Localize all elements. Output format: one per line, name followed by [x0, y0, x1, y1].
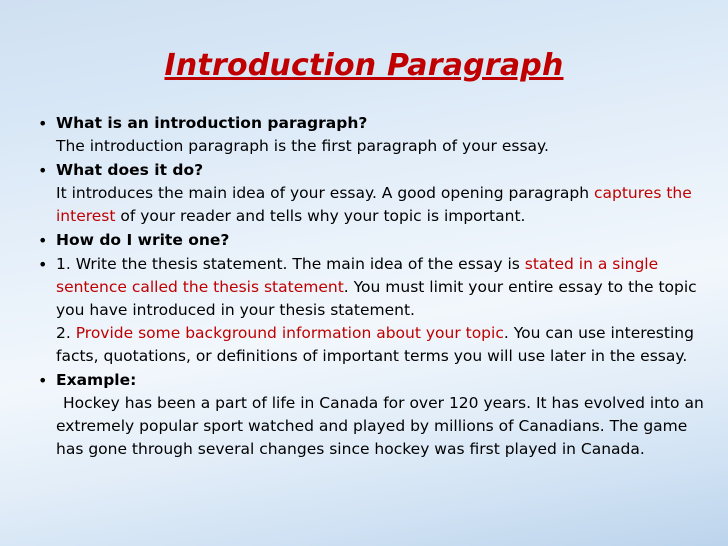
bullet-line: How do I write one? [56, 229, 708, 252]
bullet-marker-icon: • [28, 229, 56, 252]
text-run: Hockey has been a part of life in Canada… [56, 394, 704, 458]
bullet-text: What is an introduction paragraph?The in… [56, 112, 708, 158]
slide-body: •What is an introduction paragraph?The i… [28, 112, 708, 462]
bullet-item: •Example:Hockey has been a part of life … [28, 369, 708, 461]
bullet-text: 1. Write the thesis statement. The main … [56, 253, 708, 368]
text-run: It introduces the main idea of your essa… [56, 184, 594, 202]
text-run: How do I write one? [56, 231, 229, 249]
bullet-line: 2. Provide some background information a… [56, 322, 708, 368]
highlight-text: Provide some background information abou… [76, 324, 504, 342]
text-run: What does it do? [56, 161, 203, 179]
bullet-line: It introduces the main idea of your essa… [56, 182, 708, 228]
text-run: The introduction paragraph is the first … [56, 137, 549, 155]
text-run: 1. Write the thesis statement. The main … [56, 255, 525, 273]
bullet-line: What does it do? [56, 159, 708, 182]
bullet-marker-icon: • [28, 369, 56, 392]
bullet-marker-icon: • [28, 159, 56, 182]
text-run: What is an introduction paragraph? [56, 114, 367, 132]
bullet-text: Example:Hockey has been a part of life i… [56, 369, 708, 461]
bullet-item: •1. Write the thesis statement. The main… [28, 253, 708, 368]
bullet-marker-icon: • [28, 253, 56, 276]
bullet-item: •What does it do?It introduces the main … [28, 159, 708, 228]
bullet-line: Hockey has been a part of life in Canada… [56, 392, 708, 461]
text-run: of your reader and tells why your topic … [115, 207, 525, 225]
slide-canvas: Introduction Paragraph •What is an intro… [0, 0, 728, 546]
bullet-marker-icon: • [28, 112, 56, 135]
bullet-text: How do I write one? [56, 229, 708, 252]
bullet-item: •What is an introduction paragraph?The i… [28, 112, 708, 158]
bullet-item: •How do I write one? [28, 229, 708, 252]
text-run: Example: [56, 371, 136, 389]
bullet-line: Example: [56, 369, 708, 392]
bullet-line: The introduction paragraph is the first … [56, 135, 708, 158]
text-run: 2. [56, 324, 76, 342]
bullet-line: What is an introduction paragraph? [56, 112, 708, 135]
bullet-text: What does it do?It introduces the main i… [56, 159, 708, 228]
bullet-line: 1. Write the thesis statement. The main … [56, 253, 708, 322]
page-title: Introduction Paragraph [0, 48, 728, 83]
